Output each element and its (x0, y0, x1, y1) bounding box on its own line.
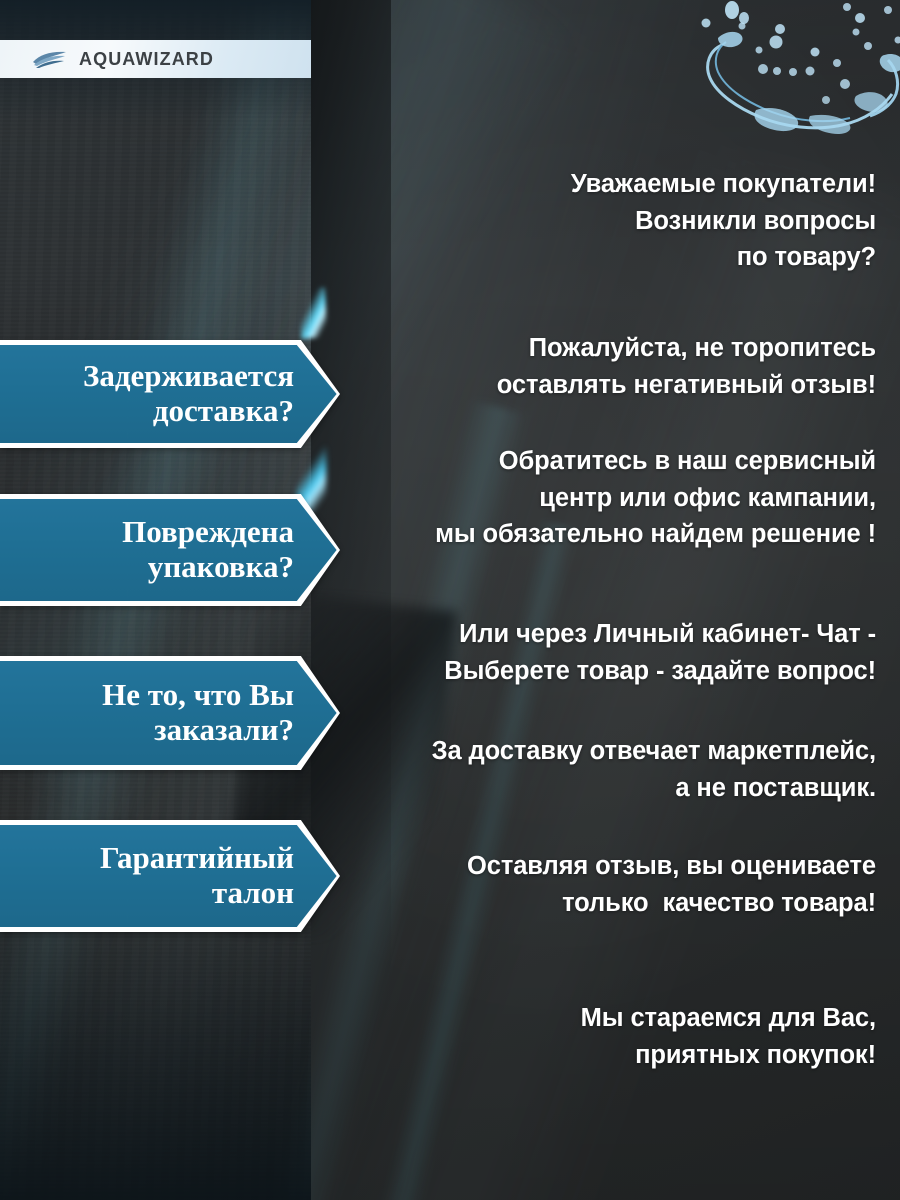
brand-logo[interactable]: AQUAWIZARD (0, 40, 311, 78)
sidebar-item-warranty-card[interactable]: Гарантийный талон (0, 820, 340, 932)
message-block-chat-route: Или через Личный кабинет- Чат - Выберете… (444, 616, 876, 689)
panel-bottom-shade (0, 900, 311, 1200)
message-block-greeting: Уважаемые покупатели! Возникли вопросы п… (571, 166, 876, 276)
tab-label: Задерживается доставка? (14, 359, 294, 428)
water-wave-icon (32, 49, 70, 69)
message-block-delivery-responsibility: За доставку отвечает маркетплейс, а не п… (432, 733, 876, 806)
message-block-review-scope: Оставляя отзыв, вы оцениваете только кач… (467, 848, 876, 921)
tab-label: Повреждена упаковка? (14, 515, 294, 584)
cyan-glow-accent (299, 287, 328, 338)
tab-label: Не то, что Вы заказали? (14, 678, 294, 747)
sidebar-item-wrong-item[interactable]: Не то, что Вы заказали? (0, 656, 340, 770)
message-block-closing: Мы стараемся для Вас, приятных покупок! (581, 1000, 876, 1073)
message-block-contact-service: Обратитесь в наш сервисный центр или офи… (435, 443, 876, 553)
sidebar-item-delivery-delayed[interactable]: Задерживается доставка? (0, 340, 340, 448)
logo-text: AQUAWIZARD (79, 50, 214, 68)
message-block-no-rush: Пожалуйста, не торопитесь оставлять нега… (497, 330, 876, 403)
promo-banner: AQUAWIZARD Задерживается доставка? Повре… (0, 0, 900, 1200)
tab-label: Гарантийный талон (14, 841, 294, 910)
sidebar-item-packaging-damaged[interactable]: Повреждена упаковка? (0, 494, 340, 606)
